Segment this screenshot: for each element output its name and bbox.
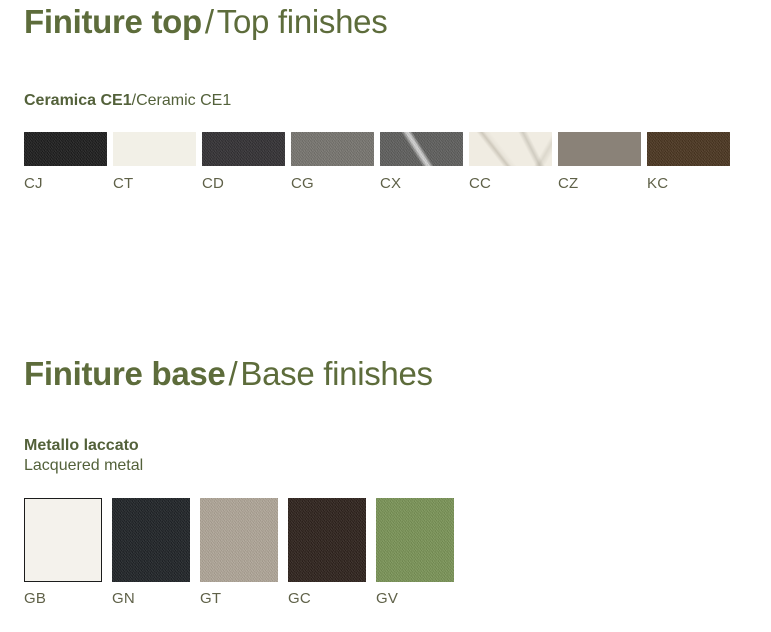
swatch-code-cj: CJ (24, 175, 43, 192)
swatch-chip-cz[interactable] (558, 132, 641, 166)
swatch-cell[interactable]: CG (291, 132, 380, 192)
swatch-code-gv: GV (376, 590, 398, 607)
swatch-cell[interactable]: KC (647, 132, 736, 192)
swatch-chip-cg[interactable] (291, 132, 374, 166)
swatch-cell[interactable]: CT (113, 132, 202, 192)
heading-english: Base finishes (240, 355, 432, 392)
swatch-chip-cd[interactable] (202, 132, 285, 166)
swatch-chip-gv[interactable] (376, 498, 454, 582)
swatch-cell[interactable]: GT (200, 498, 288, 607)
swatch-code-gt: GT (200, 590, 221, 607)
swatch-code-gc: GC (288, 590, 311, 607)
swatch-chip-kc[interactable] (647, 132, 730, 166)
swatch-chip-cx[interactable] (380, 132, 463, 166)
swatch-code-ct: CT (113, 175, 133, 192)
swatch-code-cc: CC (469, 175, 491, 192)
swatch-chip-ct[interactable] (113, 132, 196, 166)
swatch-cell[interactable]: CX (380, 132, 469, 192)
heading-italian: Finiture top (24, 3, 202, 40)
swatch-code-cd: CD (202, 175, 224, 192)
swatch-chip-gt[interactable] (200, 498, 278, 582)
top-finishes-section: Finiture top/Top finishes Ceramica CE1/C… (0, 0, 771, 192)
heading-separator: / (225, 355, 240, 392)
ceramic-material-title: Ceramica CE1/Ceramic CE1 (0, 91, 771, 111)
swatch-cell[interactable]: GC (288, 498, 376, 607)
base-finishes-heading: Finiture base/Base finishes (0, 352, 771, 396)
swatch-code-kc: KC (647, 175, 668, 192)
metal-swatch-row: GB GN GT GC GV (0, 498, 771, 607)
swatch-code-gn: GN (112, 590, 135, 607)
heading-separator: / (202, 3, 217, 40)
swatch-code-cg: CG (291, 175, 314, 192)
material-name-english: Ceramic CE1 (136, 92, 231, 109)
swatch-cell[interactable]: GN (112, 498, 200, 607)
top-finishes-heading: Finiture top/Top finishes (0, 0, 771, 44)
swatch-chip-gb[interactable] (24, 498, 102, 582)
swatch-cell[interactable]: CC (469, 132, 558, 192)
ceramic-swatch-row: CJ CT CD CG CX CC CZ KC (0, 132, 771, 192)
swatch-cell[interactable]: CJ (24, 132, 113, 192)
swatch-chip-gn[interactable] (112, 498, 190, 582)
swatch-cell[interactable]: CZ (558, 132, 647, 192)
material-name-italian: Ceramica CE1 (24, 92, 132, 109)
swatch-cell[interactable]: GV (376, 498, 464, 607)
base-finishes-section: Finiture base/Base finishes Metallo lacc… (0, 352, 771, 607)
swatch-code-cz: CZ (558, 175, 578, 192)
material-name-english: Lacquered metal (24, 456, 771, 476)
material-name-italian: Metallo laccato (24, 436, 771, 456)
heading-italian: Finiture base (24, 355, 225, 392)
swatch-code-cx: CX (380, 175, 401, 192)
swatch-cell[interactable]: GB (24, 498, 112, 607)
metal-material-title: Metallo laccato Lacquered metal (0, 436, 771, 476)
heading-english: Top finishes (217, 3, 388, 40)
swatch-chip-cj[interactable] (24, 132, 107, 166)
swatch-chip-cc[interactable] (469, 132, 552, 166)
swatch-chip-gc[interactable] (288, 498, 366, 582)
swatch-cell[interactable]: CD (202, 132, 291, 192)
swatch-code-gb: GB (24, 590, 46, 607)
